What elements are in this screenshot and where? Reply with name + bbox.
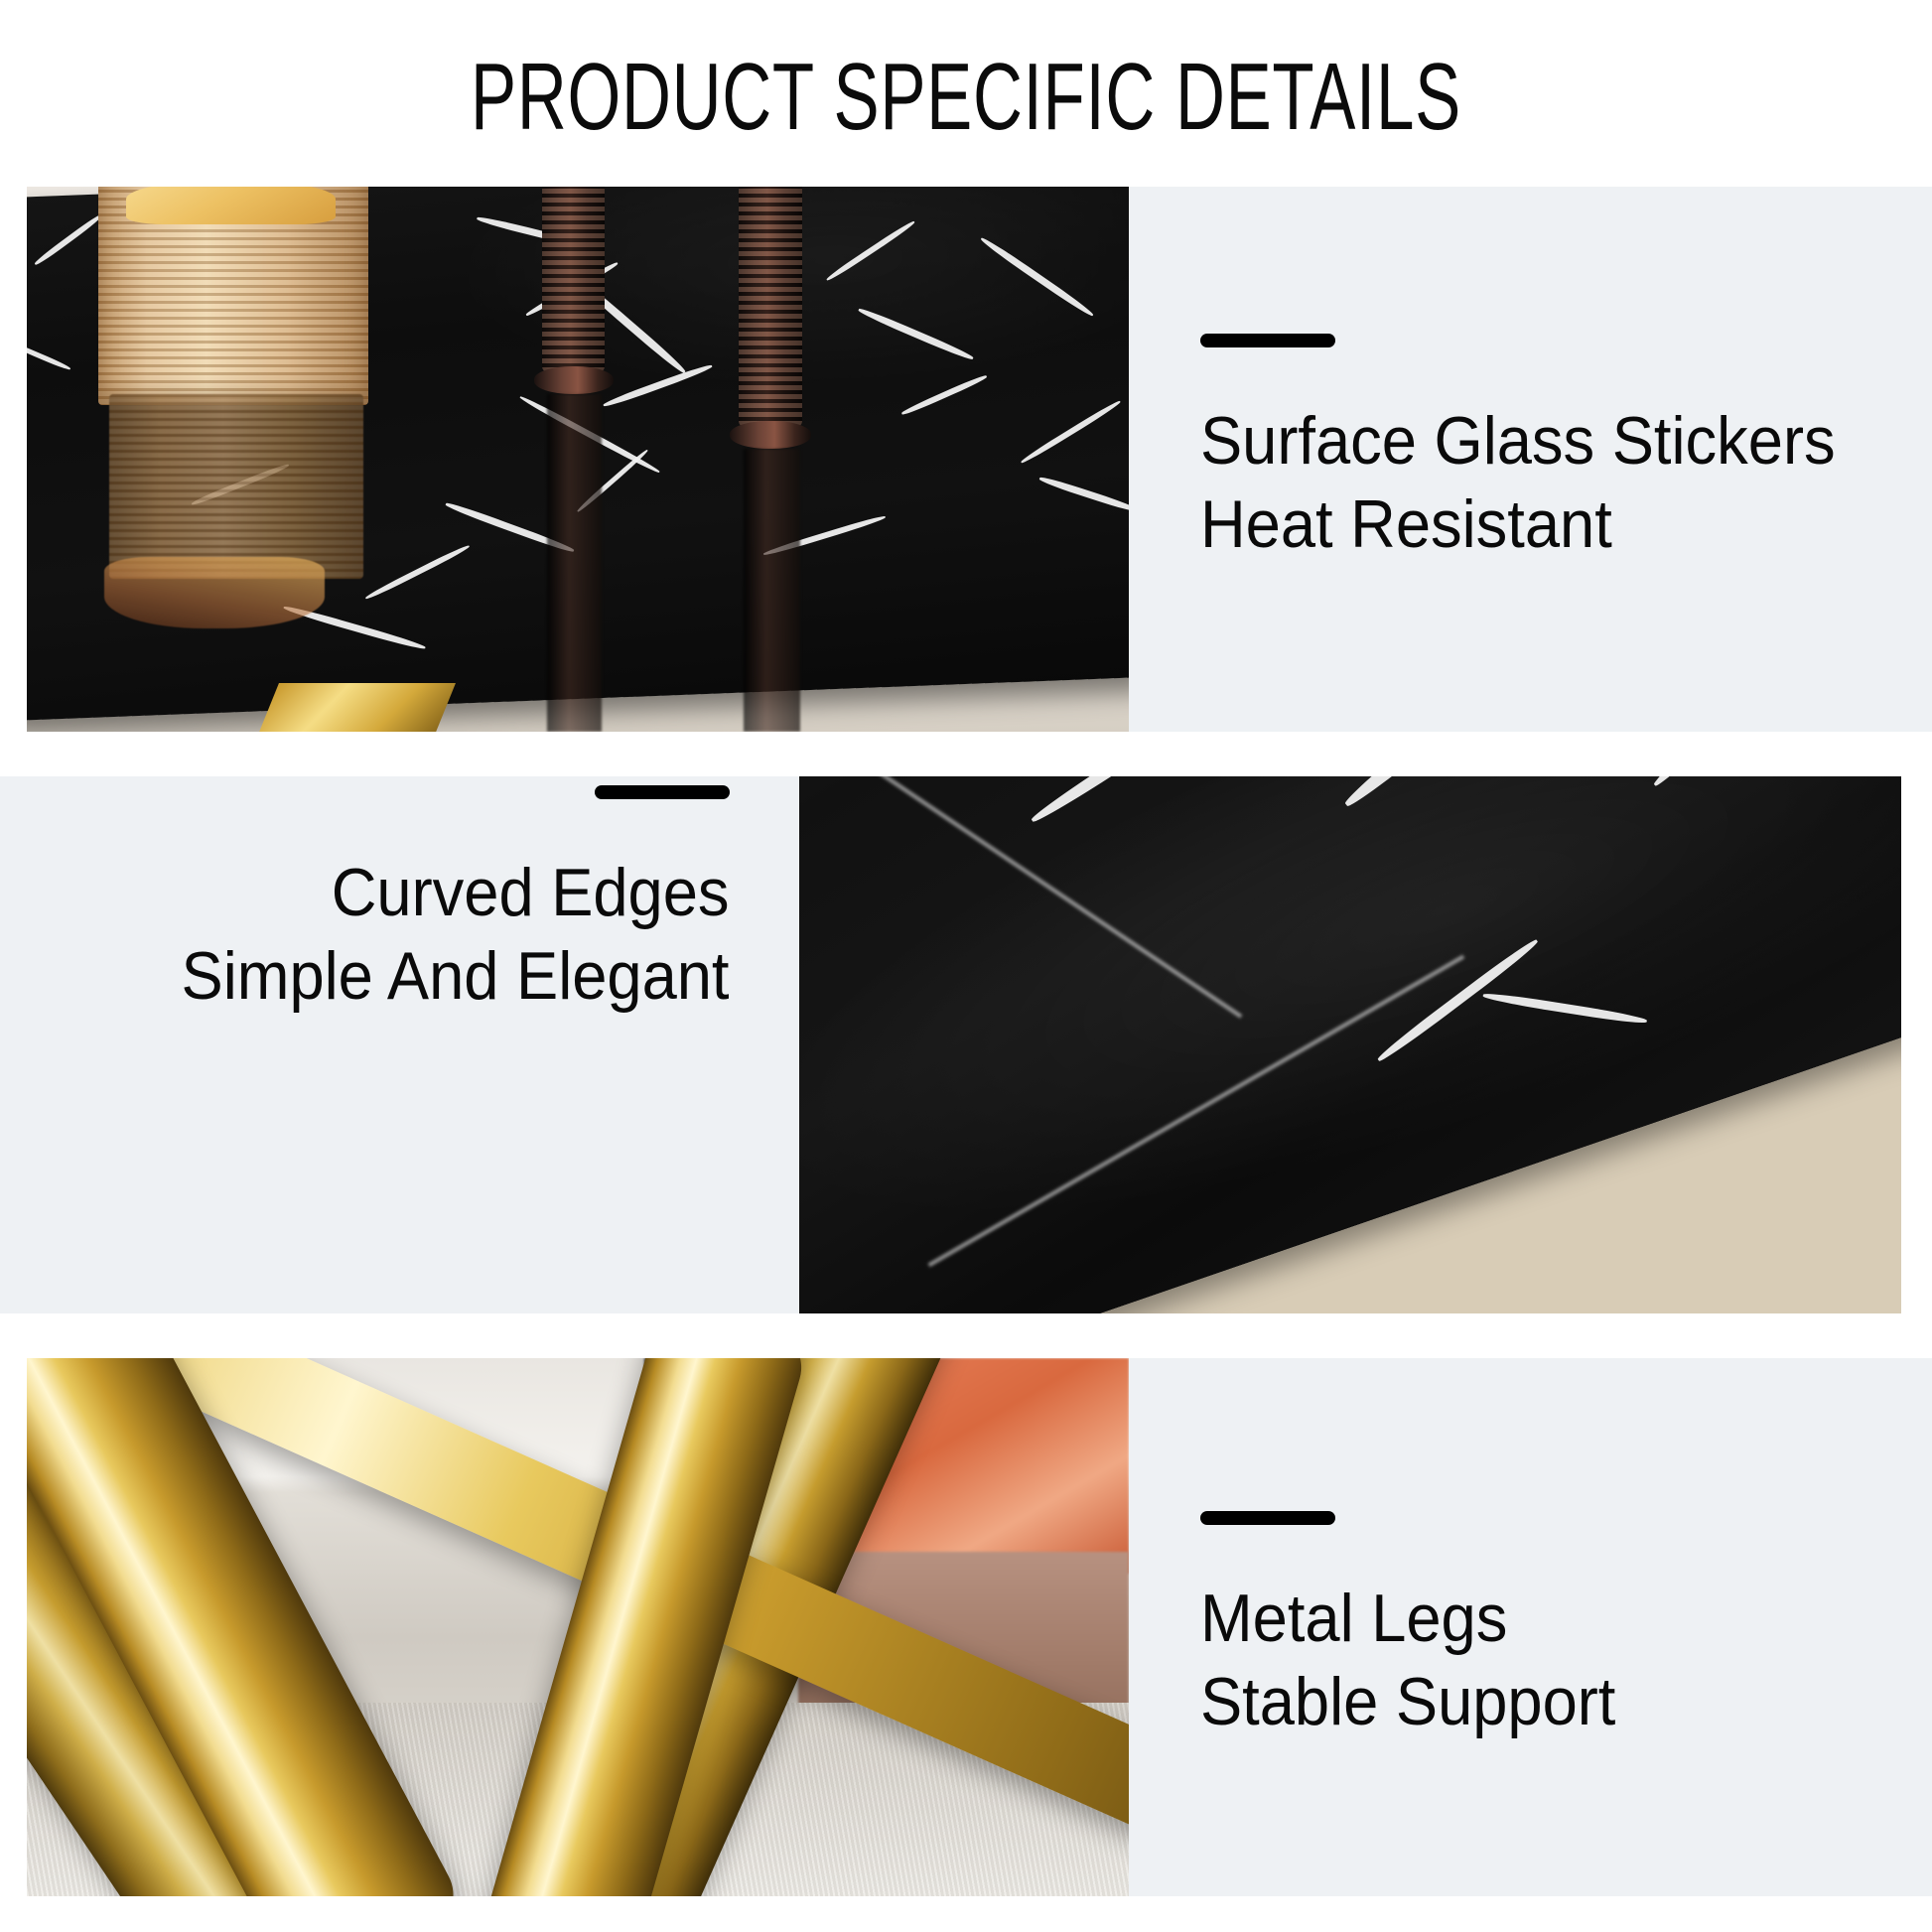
product-photo-curved-edge — [799, 776, 1901, 1313]
caption-line-secondary: Stable Support — [1200, 1660, 1615, 1743]
caption-line-secondary: Heat Resistant — [1200, 483, 1836, 566]
page-title: PRODUCT SPECIFIC DETAILS — [270, 46, 1661, 149]
photo-gold-leg-glimpse — [259, 683, 456, 732]
photo-bread-reflection — [104, 557, 325, 627]
photo-bread-in-basket — [126, 187, 336, 224]
photo-dark-leg-left-knob — [534, 366, 614, 393]
photo-dark-leg-left-reflection — [547, 394, 603, 732]
caption-line-primary: Metal Legs — [1200, 1577, 1615, 1660]
photo-dark-leg-left — [542, 187, 604, 372]
caption-panel-metal-legs: Metal Legs Stable Support — [1129, 1358, 1932, 1896]
photo-dark-leg-right — [739, 187, 802, 427]
detail-section-surface-glass: Surface Glass Stickers Heat Resistant — [27, 187, 1932, 732]
caption-surface-glass: Surface Glass Stickers Heat Resistant — [1200, 334, 1883, 566]
product-photo-gold-legs — [27, 1358, 1129, 1896]
photo-dark-leg-right-reflection — [744, 449, 801, 732]
product-photo-tabletop-surface — [27, 187, 1129, 732]
caption-line-primary: Surface Glass Stickers — [1200, 399, 1836, 483]
caption-panel-surface-glass: Surface Glass Stickers Heat Resistant — [1129, 187, 1932, 732]
caption-line-secondary: Simple And Elegant — [182, 934, 730, 1018]
photo-dark-leg-right-knob — [730, 421, 811, 448]
detail-section-metal-legs: Metal Legs Stable Support — [27, 1358, 1932, 1896]
caption-rule-icon — [1200, 1511, 1335, 1525]
caption-panel-curved-edges: Curved Edges Simple And Elegant — [0, 776, 799, 1313]
caption-rule-icon — [1200, 334, 1335, 347]
detail-section-curved-edges: Curved Edges Simple And Elegant — [0, 776, 1901, 1313]
photo-basket-reflection — [109, 394, 362, 580]
caption-line-primary: Curved Edges — [182, 851, 730, 934]
caption-curved-edges: Curved Edges Simple And Elegant — [140, 785, 730, 1018]
caption-rule-icon — [595, 785, 730, 799]
caption-metal-legs: Metal Legs Stable Support — [1200, 1511, 1647, 1743]
